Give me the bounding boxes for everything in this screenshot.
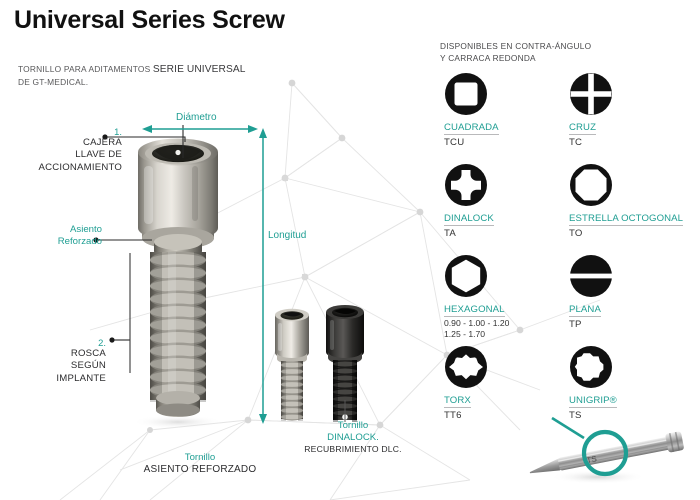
driver-row-4: TORX TT6 UNIGRIP® TS — [440, 345, 690, 436]
length-dimension-arrow — [252, 128, 274, 428]
screw-product-infographic: Universal Series Screw TORNILLO PARA ADI… — [0, 0, 700, 500]
drivers-heading-line2: Y CARRACA REDONDA — [440, 53, 536, 63]
driver-row-1: CUADRADA TCU CRUZ TC — [440, 72, 690, 163]
driver-code: TCU — [444, 137, 565, 148]
caption-dinalock-screw: Tornillo DINALOCK. RECUBRIMIENTO DLC. — [288, 420, 418, 455]
page-title: Universal Series Screw — [14, 6, 285, 35]
dinalock-caption-leader — [340, 400, 350, 422]
driver-cell-cuadrada[interactable]: CUADRADA TCU — [440, 72, 565, 163]
callout-rosca-line2: SEGÚN — [14, 360, 106, 372]
length-label: Longitud — [268, 230, 306, 241]
flat-socket-icon — [569, 254, 613, 298]
drivers-panel-heading: DISPONIBLES EN CONTRA-ÁNGULO Y CARRACA R… — [440, 41, 591, 64]
drivers-heading-line1: DISPONIBLES EN CONTRA-ÁNGULO — [440, 41, 591, 51]
subtitle-block: TORNILLO PARA ADITAMENTOS SERIE UNIVERSA… — [18, 63, 246, 88]
driver-sizes: 0.90 - 1.00 - 1.20 1.25 - 1.70 — [444, 318, 565, 339]
driver-name: ESTRELLA OCTOGONAL — [569, 213, 683, 226]
driver-name: UNIGRIP® — [569, 395, 617, 408]
driver-cell-unigrip[interactable]: UNIGRIP® TS — [565, 345, 690, 436]
driver-cell-cruz[interactable]: CRUZ TC — [565, 72, 690, 163]
callout-cajera-line1: CAJERA — [18, 137, 122, 149]
callout-asiento-line1: Asiento — [10, 224, 102, 236]
caption-main-line1: Tornillo — [105, 452, 295, 464]
driver-types-grid: CUADRADA TCU CRUZ TC DINALOCK — [440, 72, 690, 436]
callout-cajera-line2: LLAVE DE — [18, 149, 122, 161]
driver-code: TS — [569, 410, 690, 421]
driver-row-2: DINALOCK TA ESTRELLA OCTOGONAL TO — [440, 163, 690, 254]
octagon-socket-icon — [569, 163, 613, 207]
square-socket-icon — [444, 72, 488, 116]
callout-rosca-line3: IMPLANTE — [14, 373, 106, 385]
driver-name: PLANA — [569, 304, 601, 317]
driver-name: CUADRADA — [444, 122, 499, 135]
driver-code: TC — [569, 137, 690, 148]
caption-dlc-line1: Tornillo — [288, 420, 418, 432]
subtitle-series-name: SERIE UNIVERSAL — [153, 64, 246, 75]
driver-cell-plana[interactable]: PLANA TP — [565, 254, 690, 345]
caption-main-line2: ASIENTO REFORZADO — [105, 464, 295, 477]
driver-code: TO — [569, 228, 690, 239]
subtitle-line2: DE GT-MEDICAL. — [18, 77, 88, 87]
driver-code: TP — [569, 319, 690, 330]
driver-code: TA — [444, 228, 565, 239]
subtitle-line1: TORNILLO PARA ADITAMENTOS — [18, 64, 150, 74]
driver-cell-dinalock[interactable]: DINALOCK TA — [440, 163, 565, 254]
driver-row-3: HEXAGONAL 0.90 - 1.00 - 1.20 1.25 - 1.70… — [440, 254, 690, 345]
torx-socket-icon — [444, 345, 488, 389]
diameter-label: Diámetro — [176, 112, 217, 123]
callout-asiento-line2: Reforzado — [10, 236, 102, 248]
caption-dlc-line3: RECUBRIMIENTO DLC. — [288, 444, 418, 455]
driver-name: DINALOCK — [444, 213, 494, 226]
unigrip-socket-icon — [569, 345, 613, 389]
driver-cell-torx[interactable]: TORX TT6 — [440, 345, 565, 436]
caption-dlc-line2: DINALOCK. — [288, 432, 418, 444]
callout-cajera-line3: ACCIONAMIENTO — [18, 162, 122, 174]
dinalock-socket-icon — [444, 163, 488, 207]
callout-cajera: 1. CAJERA LLAVE DE ACCIONAMIENTO — [18, 126, 122, 174]
callout-cajera-number: 1. — [18, 126, 122, 137]
driver-cell-hexagonal[interactable]: HEXAGONAL 0.90 - 1.00 - 1.20 1.25 - 1.70 — [440, 254, 565, 345]
driver-sizes-line1: 0.90 - 1.00 - 1.20 — [444, 318, 509, 328]
driver-name: CRUZ — [569, 122, 596, 135]
driver-name: HEXAGONAL — [444, 304, 505, 317]
callout-asiento-reforzado: Asiento Reforzado — [10, 224, 102, 249]
driver-code: TT6 — [444, 410, 565, 421]
callout-rosca-line1: ROSCA — [14, 348, 106, 360]
callout-rosca-number: 2. — [14, 337, 106, 348]
caption-main-screw: Tornillo ASIENTO REFORZADO — [105, 452, 295, 477]
hexagon-socket-icon — [444, 254, 488, 298]
driver-name: TORX — [444, 395, 471, 408]
small-screw-titanium — [268, 305, 316, 430]
driver-cell-estrella-octogonal[interactable]: ESTRELLA OCTOGONAL TO — [565, 163, 690, 254]
cross-socket-icon — [569, 72, 613, 116]
callout-rosca: 2. ROSCA SEGÚN IMPLANTE — [14, 337, 106, 385]
driver-sizes-line2: 1.25 - 1.70 — [444, 329, 485, 339]
